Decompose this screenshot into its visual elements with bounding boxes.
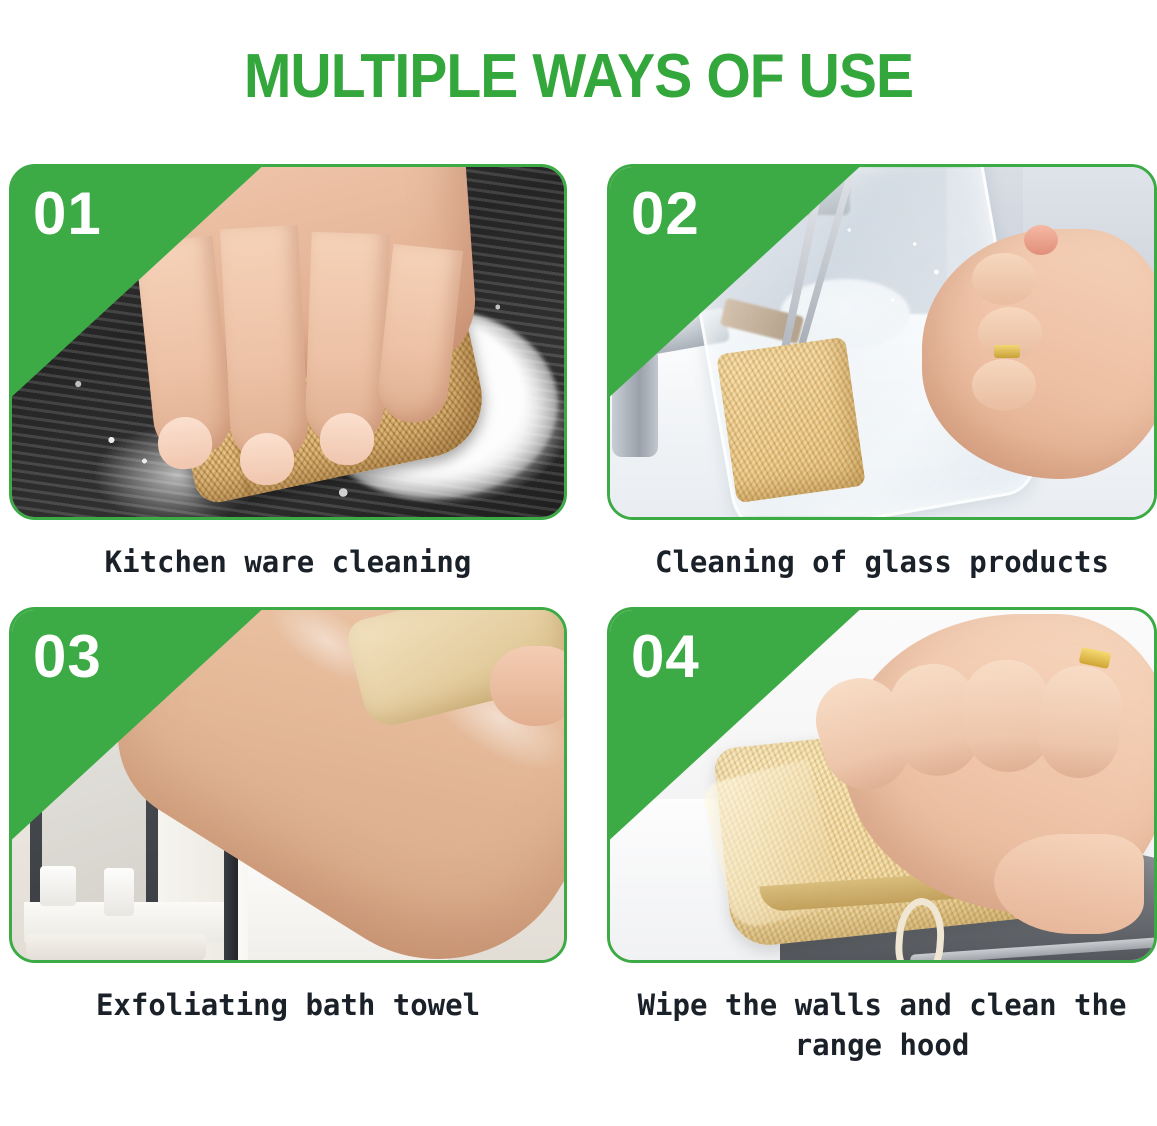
photo-wipe-walls-range-hood — [610, 610, 1154, 960]
usage-card-01: 01 Kitchen ware cleaning — [9, 164, 567, 582]
page-title: MULTIPLE WAYS OF USE — [46, 42, 1110, 110]
knuckle — [972, 253, 1036, 305]
leaf — [31, 705, 79, 729]
caption-line: Wipe the walls and clean the — [638, 985, 1127, 1025]
finger-ring — [994, 345, 1020, 358]
plant — [28, 706, 114, 776]
toiletry-bottle — [40, 866, 76, 906]
folded-towel — [26, 934, 206, 960]
usage-card-02: 02 Cleaning of glass products — [607, 164, 1157, 582]
card-caption-02: Cleaning of glass products — [655, 542, 1109, 582]
knuckle — [972, 359, 1036, 411]
card-caption-04: Wipe the walls and clean the range hood — [638, 985, 1127, 1065]
fingernail — [1024, 225, 1058, 255]
finger — [220, 225, 310, 465]
photo-kitchen-ware-cleaning — [12, 167, 564, 517]
card-image-frame-02[interactable]: 02 — [607, 164, 1157, 520]
leaf — [37, 758, 74, 777]
card-caption-03: Exfoliating bath towel — [96, 985, 480, 1025]
caption-line: range hood — [638, 1025, 1127, 1065]
card-caption-01: Kitchen ware cleaning — [105, 542, 472, 582]
usage-card-03: 03 Exfoliating bath towel — [9, 607, 567, 1065]
card-image-frame-03[interactable]: 03 — [9, 607, 567, 963]
soap-dispenser — [104, 868, 134, 916]
photo-exfoliating-bath-towel — [12, 610, 564, 960]
photo-glass-product-cleaning — [610, 167, 1154, 517]
usage-card-04: 04 Wipe the walls and clean the range ho… — [607, 607, 1157, 1065]
card-image-frame-01[interactable]: 01 — [9, 164, 567, 520]
card-image-frame-04[interactable]: 04 — [607, 607, 1157, 963]
thumb — [994, 834, 1144, 934]
leaf — [27, 736, 69, 758]
usage-cards-grid: 01 Kitchen ware cleaning — [0, 164, 1157, 1065]
